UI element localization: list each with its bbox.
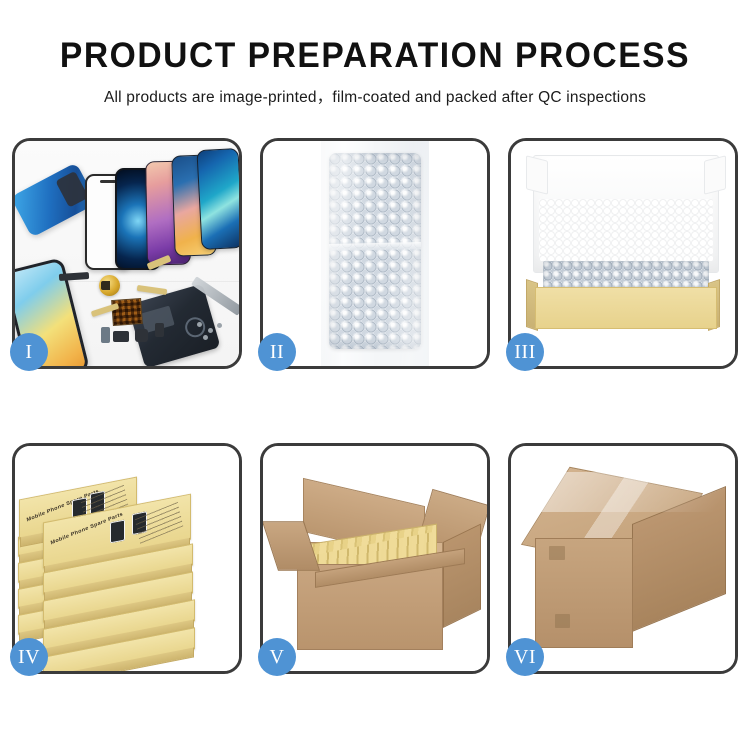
step-badge-3: III <box>506 333 544 371</box>
sealed-carton-photo <box>511 446 735 671</box>
flex-cable-icon <box>137 285 168 295</box>
step-badge-4: IV <box>10 638 48 676</box>
process-step-panel-4: Mobile Phone Spare Parts Mobile Phone Sp… <box>12 443 242 674</box>
kraft-box-front <box>535 287 717 329</box>
carton-scuff-mark <box>555 614 570 628</box>
process-step-grid: I II III <box>12 138 738 684</box>
step-badge-6: VI <box>506 638 544 676</box>
open-kraft-box-photo <box>511 141 735 366</box>
teal-gradient-screen-icon <box>196 148 239 250</box>
small-part-icon <box>135 329 148 342</box>
process-step-panel-1: I <box>12 138 242 369</box>
gold-coil-part-icon <box>99 275 120 296</box>
step-badge-1: I <box>10 333 48 371</box>
small-part-icon <box>101 327 110 343</box>
page-subtitle: All products are image-printed，film-coat… <box>0 73 750 107</box>
process-step-panel-6: VI <box>508 443 738 674</box>
small-part-icon <box>113 331 129 342</box>
open-carton-photo <box>263 446 487 671</box>
page-header: PRODUCT PREPARATION PROCESS All products… <box>0 0 750 107</box>
box-screen-thumbnail <box>110 519 125 543</box>
tape-gloss-overlay <box>523 472 735 512</box>
product-preparation-page: PRODUCT PREPARATION PROCESS All products… <box>0 0 750 750</box>
process-step-panel-3: III <box>508 138 738 369</box>
small-part-icon <box>155 323 164 337</box>
process-step-panel-2: II <box>260 138 490 369</box>
step-badge-2: II <box>258 333 296 371</box>
foam-padding-icon <box>539 199 713 261</box>
carton-scuff-mark <box>549 546 565 560</box>
process-step-panel-5: V <box>260 443 490 674</box>
phone-parts-photo <box>15 141 239 366</box>
carton-right-side <box>443 523 481 628</box>
box-spec-lines <box>135 502 183 544</box>
bubble-wrap-photo <box>263 141 487 366</box>
stacked-boxes-photo: Mobile Phone Spare Parts Mobile Phone Sp… <box>15 446 239 671</box>
screws-icon <box>197 322 223 340</box>
step-badge-5: V <box>258 638 296 676</box>
page-title: PRODUCT PREPARATION PROCESS <box>15 0 735 73</box>
box-stack: Mobile Phone Spare Parts Mobile Phone Sp… <box>15 446 239 671</box>
plastic-sheen-overlay <box>321 141 429 366</box>
